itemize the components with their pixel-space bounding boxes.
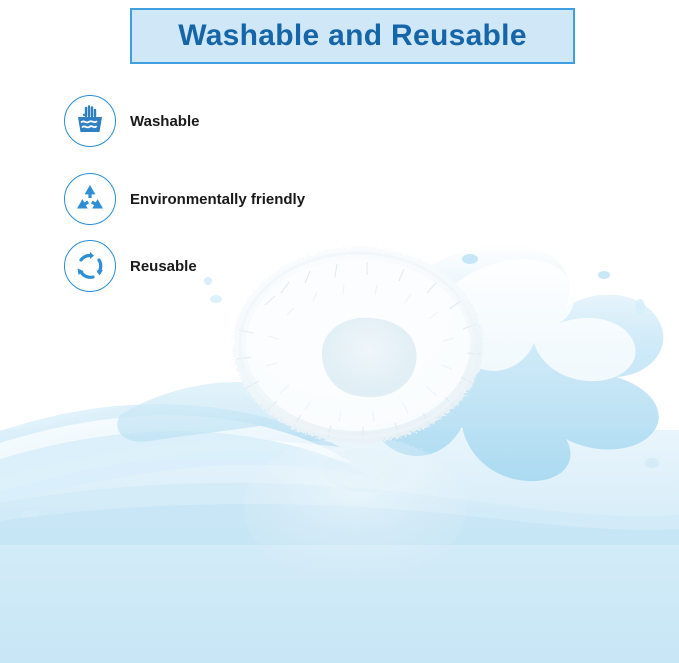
- title-banner: Washable and Reusable: [130, 8, 575, 64]
- circular-arrows-icon: [64, 240, 116, 292]
- feature-label: Washable: [130, 113, 199, 130]
- feature-label: Environmentally friendly: [130, 191, 305, 208]
- feature-item-environmentally-friendly: Environmentally friendly: [64, 173, 305, 225]
- mop-pad-product-image: [195, 245, 525, 455]
- mop-pad-reflection: [205, 430, 505, 595]
- hand-wash-icon: [64, 95, 116, 147]
- feature-item-reusable: Reusable: [64, 240, 197, 292]
- product-feature-poster: Washable and Reusable Washable: [0, 0, 679, 663]
- page-title: Washable and Reusable: [178, 19, 527, 53]
- feature-item-washable: Washable: [64, 95, 199, 147]
- feature-label: Reusable: [130, 258, 197, 275]
- recycle-icon: [64, 173, 116, 225]
